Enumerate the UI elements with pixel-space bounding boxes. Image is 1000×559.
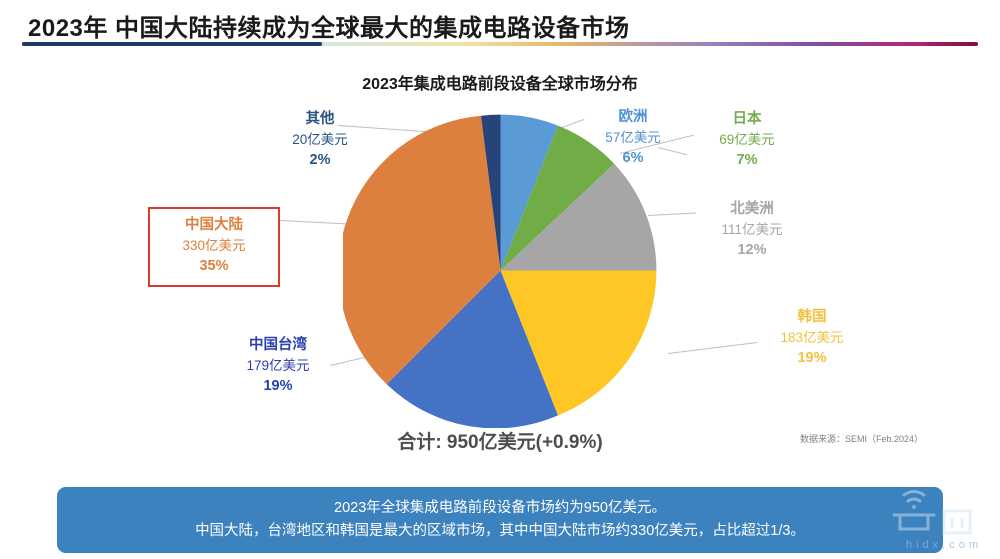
- page-title: 2023年 中国大陆持续成为全球最大的集成电路设备市场: [28, 8, 630, 43]
- chart-source-note: 数据来源：SEMI（Feb.2024）: [800, 432, 923, 445]
- label-other-pct: 2%: [265, 150, 375, 171]
- label-north-america-name: 北美洲: [692, 199, 812, 220]
- label-china-mainland-value: 330亿美元: [158, 236, 270, 256]
- label-europe-name: 欧洲: [578, 107, 688, 128]
- label-north-america-pct: 12%: [692, 240, 812, 261]
- label-taiwan-value: 179亿美元: [218, 356, 338, 376]
- label-north-america-value: 111亿美元: [692, 220, 812, 240]
- label-taiwan-pct: 19%: [218, 376, 338, 397]
- label-korea: 韩国 183亿美元 19%: [752, 307, 872, 369]
- label-korea-pct: 19%: [752, 348, 872, 369]
- label-japan: 日本 69亿美元 7%: [692, 109, 802, 171]
- label-europe-value: 57亿美元: [578, 128, 688, 148]
- label-japan-pct: 7%: [692, 150, 802, 171]
- label-other: 其他 20亿美元 2%: [265, 109, 375, 171]
- label-other-value: 20亿美元: [265, 130, 375, 150]
- slide-root: 2023年 中国大陆持续成为全球最大的集成电路设备市场 2023年集成电路前段设…: [0, 0, 1000, 559]
- label-japan-value: 69亿美元: [692, 130, 802, 150]
- watermark-text: hidx.com: [906, 539, 982, 551]
- chart-area: 其他 20亿美元 2% 欧洲 57亿美元 6% 日本 69亿美元 7% 北美洲 …: [0, 95, 1000, 455]
- label-china-mainland-highlighted: 中国大陆 330亿美元 35%: [148, 207, 280, 287]
- label-japan-name: 日本: [692, 109, 802, 130]
- label-taiwan: 中国台湾 179亿美元 19%: [218, 335, 338, 397]
- title-divider: [22, 42, 978, 46]
- label-other-name: 其他: [265, 109, 375, 130]
- label-taiwan-name: 中国台湾: [218, 335, 338, 356]
- chart-title: 2023年集成电路前段设备全球市场分布: [0, 70, 1000, 94]
- caption-line-2: 中国大陆，台湾地区和韩国是最大的区域市场，其中中国大陆市场约330亿美元，占比超…: [195, 520, 805, 543]
- label-china-mainland-name: 中国大陆: [158, 215, 270, 236]
- label-korea-value: 183亿美元: [752, 328, 872, 348]
- label-china-mainland-pct: 35%: [158, 256, 270, 277]
- label-europe-pct: 6%: [578, 148, 688, 169]
- caption-box: 2023年全球集成电路前段设备市场约为950亿美元。 中国大陆，台湾地区和韩国是…: [57, 487, 943, 553]
- caption-line-1: 2023年全球集成电路前段设备市场约为950亿美元。: [334, 497, 666, 520]
- label-north-america: 北美洲 111亿美元 12%: [692, 199, 812, 261]
- label-korea-name: 韩国: [752, 307, 872, 328]
- leader-line-korea: [668, 342, 757, 354]
- label-europe: 欧洲 57亿美元 6%: [578, 107, 688, 169]
